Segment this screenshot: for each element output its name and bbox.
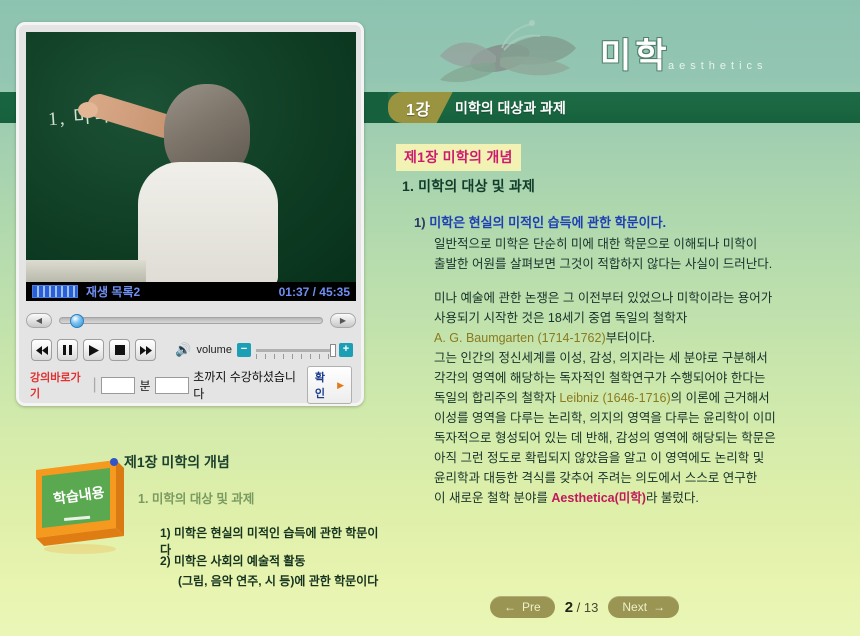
para3-line3: 독일의 합리주의 철학자 Leibniz (1646-1716)의 이론에 근거… xyxy=(434,388,846,408)
second-input[interactable] xyxy=(155,377,190,394)
page-title-ko: 미학 xyxy=(600,37,671,75)
minute-input[interactable] xyxy=(101,377,136,394)
arrow-left-icon: ← xyxy=(504,600,516,614)
study-board-icon: 학습내용 xyxy=(28,456,132,556)
baumgarten-suffix: 부터이다. xyxy=(606,331,655,345)
lecturer-body xyxy=(138,162,278,282)
nudge-left-icon[interactable]: ◀ xyxy=(26,313,52,328)
total-pages: 13 xyxy=(584,600,598,615)
playlist-bar: 재생 목록2 01:37 / 45:35 xyxy=(26,282,356,301)
lecture-number-badge: 1강 xyxy=(388,92,453,123)
minute-unit: 분 xyxy=(139,377,150,394)
separator: | xyxy=(93,376,97,394)
para3-line6: 아직 그런 정도로 확립되지 않았음을 알고 이 영역에도 논리학 및 xyxy=(434,448,846,468)
para3-line1: 그는 인간의 정신세계를 이성, 감성, 의지라는 세 분야로 구분해서 xyxy=(434,348,846,368)
moth-decoration-icon xyxy=(404,14,604,94)
volume-label: volume xyxy=(197,344,232,356)
next-label: Next xyxy=(622,600,647,614)
video-stage[interactable]: 1, 미학 xyxy=(26,32,356,282)
page-title-en: aesthetics xyxy=(668,60,768,72)
confirm-label: 확인 xyxy=(315,369,334,401)
para3-line2: 각각의 영역에 해당하는 독자적인 철학연구가 수행되어야 한다는 xyxy=(434,368,846,388)
paragraph-1: 일반적으로 미학은 단순히 미에 대한 학문으로 이해되나 미학이 출발한 어원… xyxy=(434,234,846,274)
play-icon[interactable] xyxy=(83,339,104,361)
current-page: 2 xyxy=(565,599,573,616)
goto-lecture-link[interactable]: 강의바로가기 xyxy=(30,369,89,401)
nudge-right-icon[interactable]: ▶ xyxy=(330,313,356,328)
summary-title: 제1장 미학의 개념 xyxy=(124,452,230,472)
para2-line2: 사용되기 시작한 것은 18세기 중엽 독일의 철학자 xyxy=(434,308,846,328)
chapter-heading: 제1장 미학의 개념 xyxy=(396,144,521,171)
arrow-right-icon: → xyxy=(653,600,665,614)
leibniz-prefix: 독일의 합리주의 철학자 xyxy=(434,391,559,405)
progress-confirm-row: 강의바로가기 | 분 초까지 수강하셨습니다 확인 ▶ xyxy=(26,371,356,399)
para1-line2: 출발한 어원를 살펴보면 그것이 적합하지 않다는 사실이 드러난다. xyxy=(434,254,846,274)
page-title: 미학 xyxy=(600,28,671,77)
time-display: 01:37 / 45:35 xyxy=(279,285,350,299)
prev-label: Pre xyxy=(522,600,541,614)
section-heading: 1. 미학의 대상 및 과제 xyxy=(402,176,846,196)
second-unit: 초까지 수강하셨습니다 xyxy=(193,368,303,402)
volume-control: 🔊 volume − + xyxy=(175,342,353,358)
volume-increase-button[interactable]: + xyxy=(339,343,353,357)
aesthetica-suffix: 라 불렀다. xyxy=(646,491,699,505)
leibniz-name: Leibniz (1646-1716) xyxy=(559,391,670,405)
para3-line8: 이 새로운 철학 분야를 Aesthetica(미학)라 불렀다. xyxy=(434,488,846,508)
seek-track[interactable] xyxy=(59,317,323,324)
item-number: 1) xyxy=(414,215,426,230)
volume-track[interactable] xyxy=(256,349,334,352)
summary-item-2-cont: (그림, 음악 연주, 시 등)에 관한 학문이다 xyxy=(178,572,378,589)
stop-icon[interactable] xyxy=(109,339,130,361)
lecturer-hand xyxy=(78,102,98,118)
prev-button[interactable]: ← Pre xyxy=(490,596,555,618)
item-title-row: 1) 미학은 현실의 미적인 습득에 관한 학문이다. xyxy=(414,212,846,231)
paragraph-3: 그는 인간의 정신세계를 이성, 감성, 의지라는 세 분야로 구분해서 각각의… xyxy=(434,348,846,508)
pause-icon[interactable] xyxy=(57,339,78,361)
leibniz-suffix: 의 이론에 근거해서 xyxy=(671,391,770,405)
pagination: ← Pre 2 / 13 Next → xyxy=(490,596,679,618)
confirm-arrow-icon: ▶ xyxy=(337,380,344,391)
fast-forward-icon[interactable] xyxy=(135,339,156,361)
aesthetica-term: Aesthetica(미학) xyxy=(551,491,646,505)
para3-line5: 독자적으로 형성되어 있는 데 반해, 감성의 영역에 해당되는 학문은 xyxy=(434,428,846,448)
para3-line7: 윤리학과 대등한 격식를 갖추어 주려는 의도에서 스스로 연구한 xyxy=(434,468,846,488)
playlist-label: 재생 목록2 xyxy=(86,283,279,300)
page-separator: / xyxy=(577,600,581,615)
speaker-icon: 🔊 xyxy=(175,342,191,358)
next-button[interactable]: Next → xyxy=(608,596,679,618)
volume-ticks xyxy=(256,354,334,359)
para1-line1: 일반적으로 미학은 단순히 미에 대한 학문으로 이해되나 미학이 xyxy=(434,234,846,254)
desk xyxy=(26,260,146,282)
seek-thumb[interactable] xyxy=(70,314,84,328)
para2-line3: A. G. Baumgarten (1714-1762)부터이다. xyxy=(434,328,846,348)
seek-row: ◀ ▶ xyxy=(26,309,356,331)
aesthetica-prefix: 이 새로운 철학 분야를 xyxy=(434,491,551,505)
para3-line4: 이성를 영역을 다루는 논리학, 의지의 영역을 다루는 윤리학이 이미 xyxy=(434,408,846,428)
lecture-title: 미학의 대상과 과제 xyxy=(455,92,566,123)
item-title: 미학은 현실의 미적인 습득에 관한 학문이다. xyxy=(429,215,666,230)
lesson-content: 1. 미학의 대상 및 과제 1) 미학은 현실의 미적인 습득에 관한 학문이… xyxy=(396,176,846,508)
para2-line1: 미나 예술에 관한 논쟁은 그 이전부터 있었으나 미학이라는 용어가 xyxy=(434,288,846,308)
summary-item-2: 2) 미학은 사회의 예술적 활동 xyxy=(160,552,305,569)
page-counter: 2 / 13 xyxy=(565,599,599,616)
equalizer-icon xyxy=(32,285,78,298)
confirm-button[interactable]: 확인 ▶ xyxy=(307,366,352,404)
rewind-icon[interactable] xyxy=(31,339,52,361)
transport-controls: 🔊 volume − + xyxy=(31,337,353,363)
paragraph-2: 미나 예술에 관한 논쟁은 그 이전부터 있었으나 미학이라는 용어가 사용되기… xyxy=(434,288,846,348)
video-player: 1, 미학 재생 목록2 01:37 / 45:35 ◀ ▶ xyxy=(16,22,364,406)
baumgarten-name: A. G. Baumgarten (1714-1762) xyxy=(434,331,606,345)
summary-bullet xyxy=(110,458,118,466)
summary-subtitle: 1. 미학의 대상 및 과제 xyxy=(138,488,254,507)
volume-thumb[interactable] xyxy=(330,344,336,357)
volume-decrease-button[interactable]: − xyxy=(237,343,251,357)
